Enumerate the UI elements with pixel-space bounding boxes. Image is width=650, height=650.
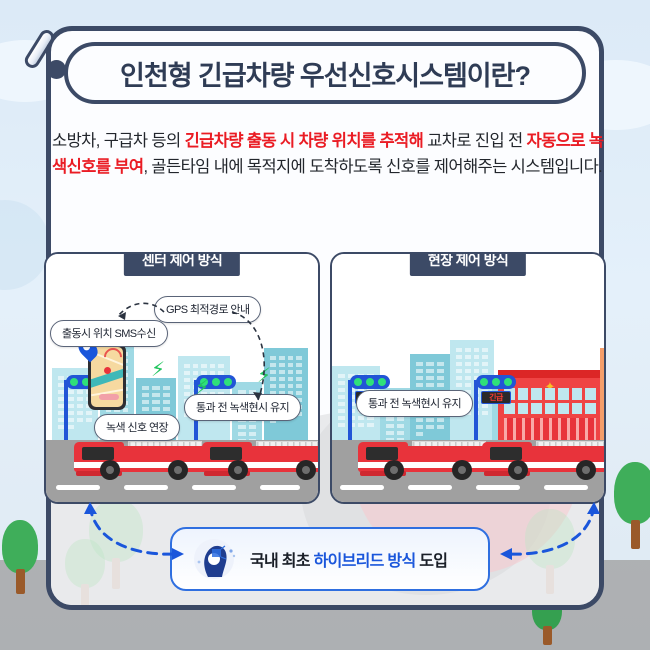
station-tower <box>600 348 606 440</box>
fire-truck <box>482 436 606 480</box>
tree-icon <box>2 520 38 594</box>
panel-title-center: 센터 제어 방식 <box>124 252 240 276</box>
green-hold-bubble: 통과 전 녹색현시 유지 <box>184 394 301 421</box>
intro-text: 교차로 진입 전 <box>423 132 526 150</box>
fire-truck <box>358 436 490 480</box>
road-dash <box>124 485 168 490</box>
traffic-signal-left: 긴급 <box>348 380 352 440</box>
hybrid-connector-arrows <box>484 498 604 568</box>
road-dash <box>476 485 520 490</box>
fire-truck <box>74 436 206 480</box>
green-extend-bubble: 녹색 신호 연장 <box>94 414 180 441</box>
intro-text: 소방차, 구급차 등의 <box>52 132 185 150</box>
signal-lamp-box <box>350 375 390 389</box>
scene-field-control: ✦ 119 긴급 긴급 <box>332 254 604 502</box>
emergency-led-label: 긴급 <box>481 391 511 404</box>
hybrid-connector-arrows <box>80 498 200 568</box>
page-title-pill: 인천형 긴급차량 우선신호시스템이란? <box>64 42 586 104</box>
page-title: 인천형 긴급차량 우선신호시스템이란? <box>120 54 530 93</box>
sms-receive-bubble: 출동시 위치 SMS수신 <box>50 320 168 347</box>
fire-truck <box>202 436 320 480</box>
panel-field-control: 현장 제어 방식 ✦ <box>330 252 606 504</box>
hybrid-emphasis: 하이브리드 방식 <box>314 553 416 570</box>
pin-icon <box>24 22 88 86</box>
gps-route-bubble: GPS 최적경로 안내 <box>154 296 261 323</box>
hybrid-prefix: 국내 최초 <box>250 553 314 570</box>
tree-icon <box>614 462 650 548</box>
diagram-panels: 센터 제어 방식 <box>44 252 606 504</box>
traffic-signal-left <box>64 380 68 440</box>
road-dash <box>408 485 452 490</box>
scene-center-control: ⚡ ⚡ ⚡ GPS 최적경로 안내 출동시 위치 SMS수신 녹색 신호 연장 … <box>46 254 318 502</box>
road-dash <box>340 485 384 490</box>
intro-highlight: 긴급차량 출동 시 차량 위치를 추적해 <box>185 132 424 150</box>
green-hold-bubble: 통과 전 녹색현시 유지 <box>356 390 473 417</box>
traffic-signal-right: 긴급 <box>474 380 478 440</box>
blob-shape <box>0 200 50 290</box>
signal-lamp-box <box>476 375 516 389</box>
road-dash <box>56 485 100 490</box>
hybrid-suffix: 도입 <box>415 553 447 570</box>
intro-text: , 골든타임 내에 목적지에 도착하도록 신호를 제어해주는 시스템입니다. <box>143 158 602 176</box>
road-dash <box>260 485 300 490</box>
panel-center-control: 센터 제어 방식 <box>44 252 320 504</box>
road-dash <box>544 485 588 490</box>
intro-paragraph: 소방차, 구급차 등의 긴급차량 출동 시 차량 위치를 추적해 교차로 진입 … <box>52 128 604 180</box>
road-dash <box>192 485 236 490</box>
panel-title-field: 현장 제어 방식 <box>410 252 526 276</box>
hybrid-callout: 국내 최초 하이브리드 방식 도입 <box>170 527 490 591</box>
hybrid-text: 국내 최초 하이브리드 방식 도입 <box>250 547 447 571</box>
